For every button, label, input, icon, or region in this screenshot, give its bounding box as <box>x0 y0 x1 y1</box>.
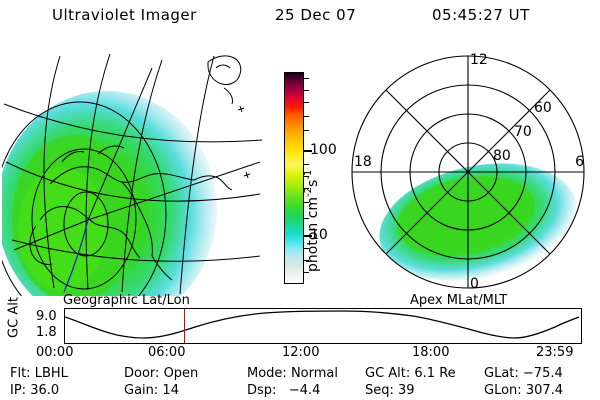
observation-date: 25 Dec 07 <box>275 8 356 23</box>
colorbar-tick <box>303 78 309 79</box>
mlat-ring-label-60: 60 <box>534 100 552 116</box>
status-glon-value: 307.4 <box>526 383 563 398</box>
status-gc-alt-label: GC Alt: <box>365 366 410 381</box>
status-glat-label: GLat: <box>484 366 519 381</box>
altitude-curve-svg <box>65 309 579 341</box>
geographic-panel <box>2 44 264 296</box>
status-ip-label: IP: <box>10 383 26 398</box>
status-flt-label: Flt: <box>10 366 31 381</box>
polar-grid <box>352 56 584 288</box>
current-time-marker <box>184 309 185 343</box>
status-footer: Flt: LBHL Door: Open Mode: Normal GC Alt… <box>0 366 600 400</box>
status-gain-value: 14 <box>162 383 179 398</box>
colorbar-tick <box>303 130 309 131</box>
colorbar-label-high: 100 <box>310 143 337 157</box>
status-door: Door: Open <box>124 366 198 381</box>
colorbar-label-low: 10 <box>310 228 328 242</box>
mlt-label-12: 12 <box>470 52 488 68</box>
mlat-ring-label-70: 70 <box>514 124 532 140</box>
timeline-y-tick-low: 1.8 <box>36 326 57 339</box>
status-gc-alt-value: 6.1 Re <box>414 366 455 381</box>
polar-panel: 12 6 0 18 60 70 80 <box>338 44 600 296</box>
timeline-y-axis-label: GC Alt <box>7 290 22 346</box>
time-tick-2359: 23:59 <box>536 345 573 360</box>
right-panel-caption: Apex MLat/MLT <box>410 294 507 307</box>
time-tick-0600: 06:00 <box>148 345 185 360</box>
status-dsp-value: −4.4 <box>281 383 321 398</box>
status-flt-value: LBHL <box>35 366 68 381</box>
mlat-ring-label-80: 80 <box>493 148 511 164</box>
status-flt: Flt: LBHL <box>10 366 68 381</box>
colorbar-tick <box>303 102 309 103</box>
colorbar-axis-title-mid: s <box>305 180 321 187</box>
status-gain-label: Gain: <box>124 383 158 398</box>
time-tick-1800: 18:00 <box>412 345 449 360</box>
altitude-timeline[interactable] <box>64 308 582 344</box>
status-mode: Mode: Normal <box>247 366 338 381</box>
status-mode-value: Normal <box>291 366 338 381</box>
geographic-map-svg <box>2 44 264 296</box>
status-dsp-label: Dsp: <box>247 383 276 398</box>
status-glat-value: −75.4 <box>523 366 563 381</box>
status-ip: IP: 36.0 <box>10 383 59 398</box>
time-tick-1200: 12:00 <box>282 345 319 360</box>
status-gc-alt: GC Alt: 6.1 Re <box>365 366 456 381</box>
colorbar: photon cm-2s-1 <box>284 72 304 284</box>
status-glon-label: GLon: <box>484 383 522 398</box>
status-seq-value: 39 <box>398 383 415 398</box>
colorbar-gradient <box>284 72 304 284</box>
status-dsp: Dsp: −4.4 <box>247 383 320 398</box>
observation-time: 05:45:27 UT <box>432 8 530 23</box>
status-seq-label: Seq: <box>365 383 394 398</box>
mlt-label-6: 6 <box>575 154 584 170</box>
colorbar-exponent-2: -1 <box>303 170 314 180</box>
colorbar-tick <box>303 90 309 91</box>
status-ip-value: 36.0 <box>30 383 59 398</box>
time-tick-0000: 00:00 <box>36 345 73 360</box>
status-glon: GLon: 307.4 <box>484 383 563 398</box>
status-glat: GLat: −75.4 <box>484 366 563 381</box>
colorbar-exponent-1: -2 <box>303 187 314 197</box>
colorbar-tick <box>303 116 309 117</box>
status-door-value: Open <box>164 366 199 381</box>
status-door-label: Door: <box>124 366 159 381</box>
timeline-y-tick-high: 9.0 <box>36 310 57 323</box>
status-mode-label: Mode: <box>247 366 287 381</box>
colorbar-axis-title: photon cm-2s-1 <box>303 141 321 301</box>
status-gain: Gain: 14 <box>124 383 179 398</box>
left-panel-caption: Geographic Lat/Lon <box>63 294 190 307</box>
polar-plot-svg: 12 6 0 18 60 70 80 <box>338 44 600 296</box>
aurora-emission-geographic <box>2 91 217 296</box>
uvi-display: Ultraviolet Imager 25 Dec 07 05:45:27 UT <box>0 0 600 400</box>
mlt-label-18: 18 <box>354 154 372 170</box>
mlt-label-0: 0 <box>470 276 479 292</box>
status-seq: Seq: 39 <box>365 383 415 398</box>
page-title: Ultraviolet Imager <box>52 8 197 23</box>
gc-altitude-curve <box>65 311 579 338</box>
